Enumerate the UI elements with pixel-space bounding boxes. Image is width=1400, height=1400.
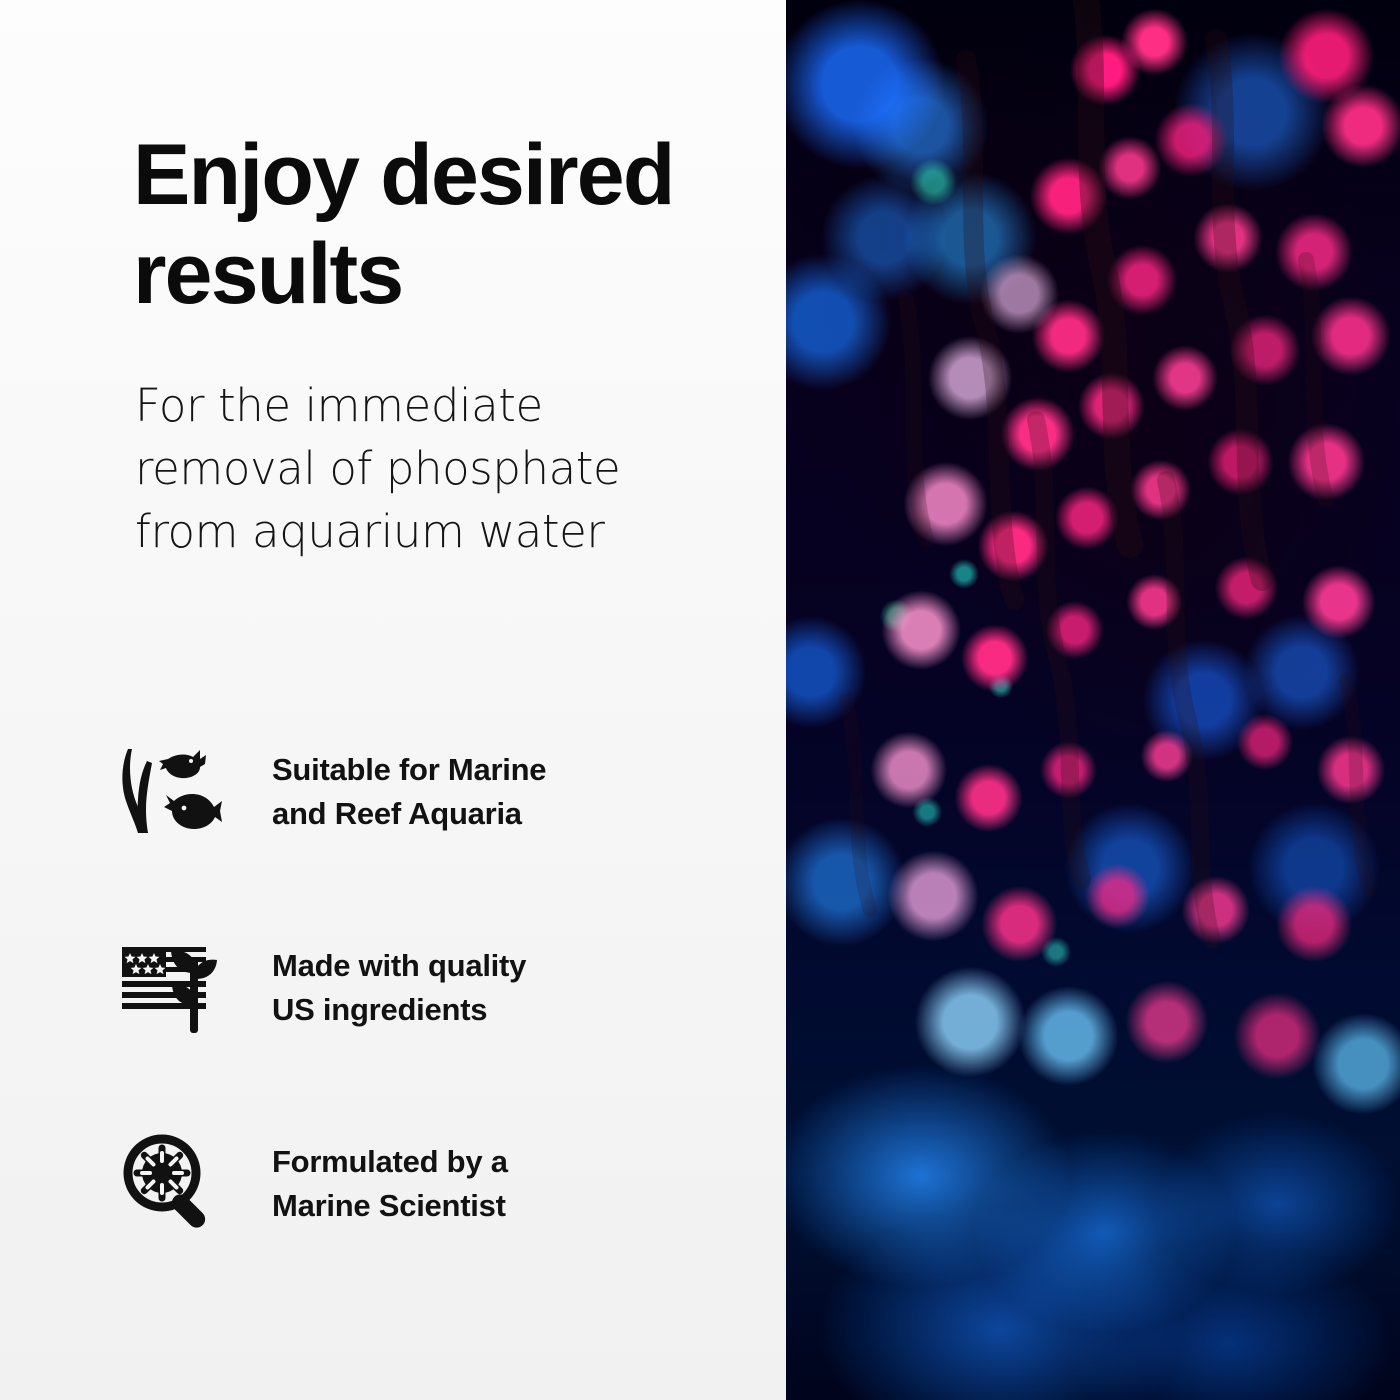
- product-feature-poster: Enjoy desired results For the immediate …: [0, 0, 1400, 1400]
- subheadline-line-1: For the immediate: [135, 379, 543, 432]
- page-title: Enjoy desired results: [133, 126, 773, 324]
- subheadline-line-2: removal of phosphate: [135, 442, 620, 495]
- feature-line-2: Marine Scientist: [272, 1184, 702, 1228]
- magnifier-microbe-icon: [118, 1127, 236, 1237]
- left-content-panel: Enjoy desired results For the immediate …: [0, 0, 786, 1400]
- headline-line-2: results: [133, 226, 402, 322]
- us-flag-plant-icon: [118, 931, 236, 1041]
- feature-line-1: Suitable for Marine: [272, 752, 546, 787]
- feature-list: Suitable for Marine and Reef Aquaria: [0, 735, 786, 1323]
- feature-line-1: Formulated by a: [272, 1144, 508, 1179]
- headline-line-1: Enjoy desired: [133, 127, 674, 223]
- seaweed-fish-icon: [118, 735, 236, 845]
- feature-item-us-ingredients: Made with quality US ingredients: [0, 931, 786, 1127]
- feature-label-us-ingredients: Made with quality US ingredients: [272, 931, 702, 1032]
- feature-label-marine-scientist: Formulated by a Marine Scientist: [272, 1127, 702, 1228]
- reef-coral-photo: [786, 0, 1400, 1400]
- subheadline-line-3: from aquarium water: [135, 505, 605, 558]
- feature-line-2: and Reef Aquaria: [272, 792, 702, 836]
- feature-line-1: Made with quality: [272, 948, 526, 983]
- coral-colony-image: [786, 0, 1400, 1400]
- feature-item-marine-scientist: Formulated by a Marine Scientist: [0, 1127, 786, 1323]
- feature-line-2: US ingredients: [272, 988, 702, 1032]
- feature-label-marine-reef: Suitable for Marine and Reef Aquaria: [272, 735, 702, 836]
- feature-item-marine-reef: Suitable for Marine and Reef Aquaria: [0, 735, 786, 931]
- page-subtitle: For the immediate removal of phosphate f…: [135, 374, 735, 563]
